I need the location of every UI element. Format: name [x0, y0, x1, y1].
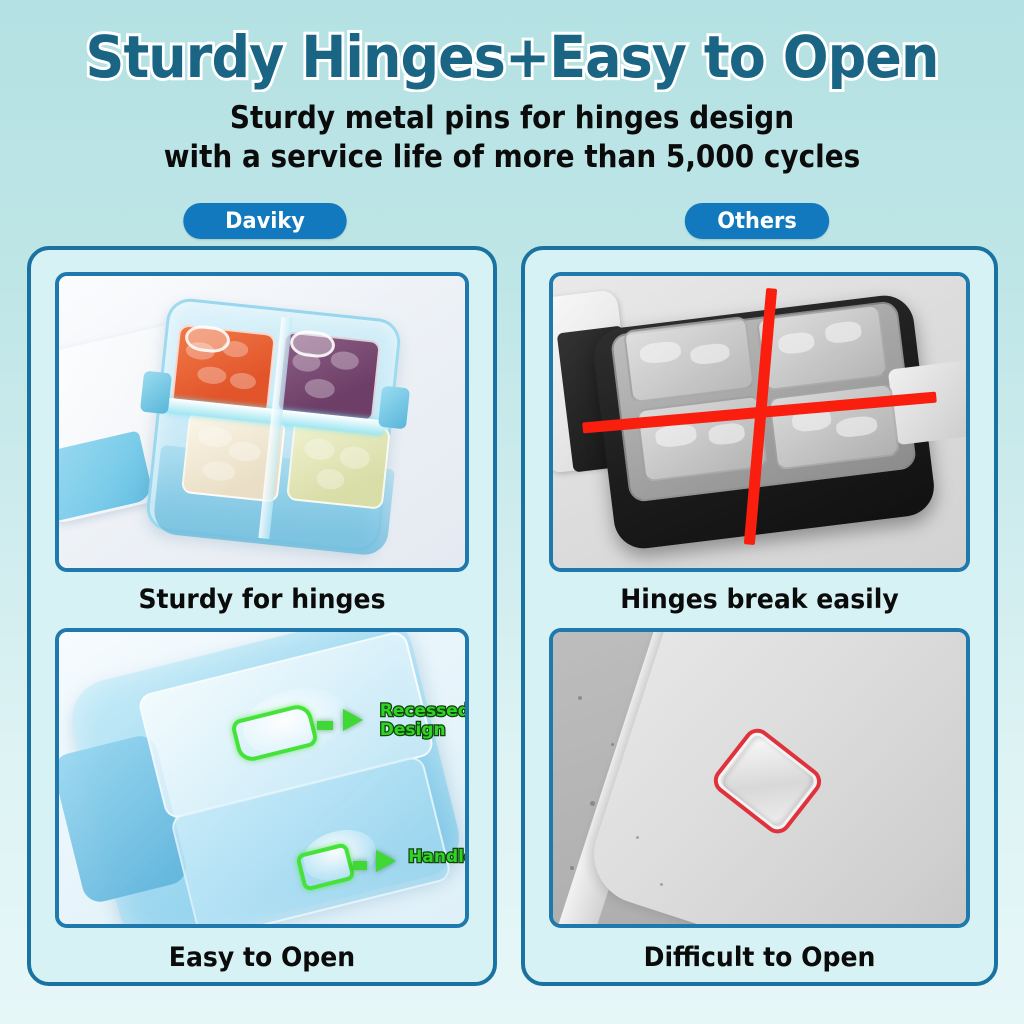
- caption-easy-to-open: Easy to Open: [47, 942, 477, 973]
- competitor-compartment-2: [756, 304, 888, 392]
- image-others-broken-hinge: [553, 276, 966, 568]
- photo-frame-easy-to-open: Recessed Design Handle: [55, 628, 469, 928]
- caption-difficult-to-open: Difficult to Open: [541, 942, 977, 973]
- caption-sturdy-hinges: Sturdy for hinges: [47, 584, 477, 615]
- pillbox-lid-edge: [55, 431, 154, 530]
- handle-arrow-tail: [353, 861, 367, 870]
- competitor-compartment-1: [623, 315, 755, 403]
- badge-others: Others: [685, 203, 829, 239]
- badge-daviky: Daviky: [183, 203, 346, 239]
- hinge-clip-left: [140, 371, 173, 415]
- handle-label: Handle: [408, 848, 469, 867]
- subtitle-line-1: Sturdy metal pins for hinges design: [51, 99, 973, 139]
- photo-frame-hinges-break: [549, 272, 970, 572]
- badge-row: Daviky Others: [0, 203, 1024, 241]
- card-others: Hinges break easily Difficult to Open: [521, 246, 998, 986]
- image-daviky-recessed-handle: Recessed Design Handle: [59, 632, 465, 924]
- image-daviky-open-pillbox: [59, 276, 465, 568]
- infographic-page: Sturdy Hinges+Easy to Open Sturdy metal …: [0, 0, 1024, 1024]
- image-others-latch-slot: [553, 632, 966, 924]
- recessed-arrow-tail: [317, 721, 333, 730]
- recessed-design-label: Recessed Design: [380, 702, 469, 740]
- header: Sturdy Hinges+Easy to Open Sturdy metal …: [0, 0, 1024, 178]
- hinge-clip-right: [378, 386, 411, 430]
- handle-arrow-icon: [376, 850, 396, 872]
- caption-hinges-break: Hinges break easily: [541, 584, 977, 615]
- subtitle-line-2: with a service life of more than 5,000 c…: [51, 138, 973, 178]
- card-daviky: Sturdy for hinges Recessed Design Handle…: [27, 246, 497, 986]
- recessed-arrow-icon: [343, 709, 363, 731]
- photo-frame-difficult-to-open: [549, 628, 970, 928]
- photo-frame-sturdy-hinges: [55, 272, 469, 572]
- page-title: Sturdy Hinges+Easy to Open: [36, 26, 988, 89]
